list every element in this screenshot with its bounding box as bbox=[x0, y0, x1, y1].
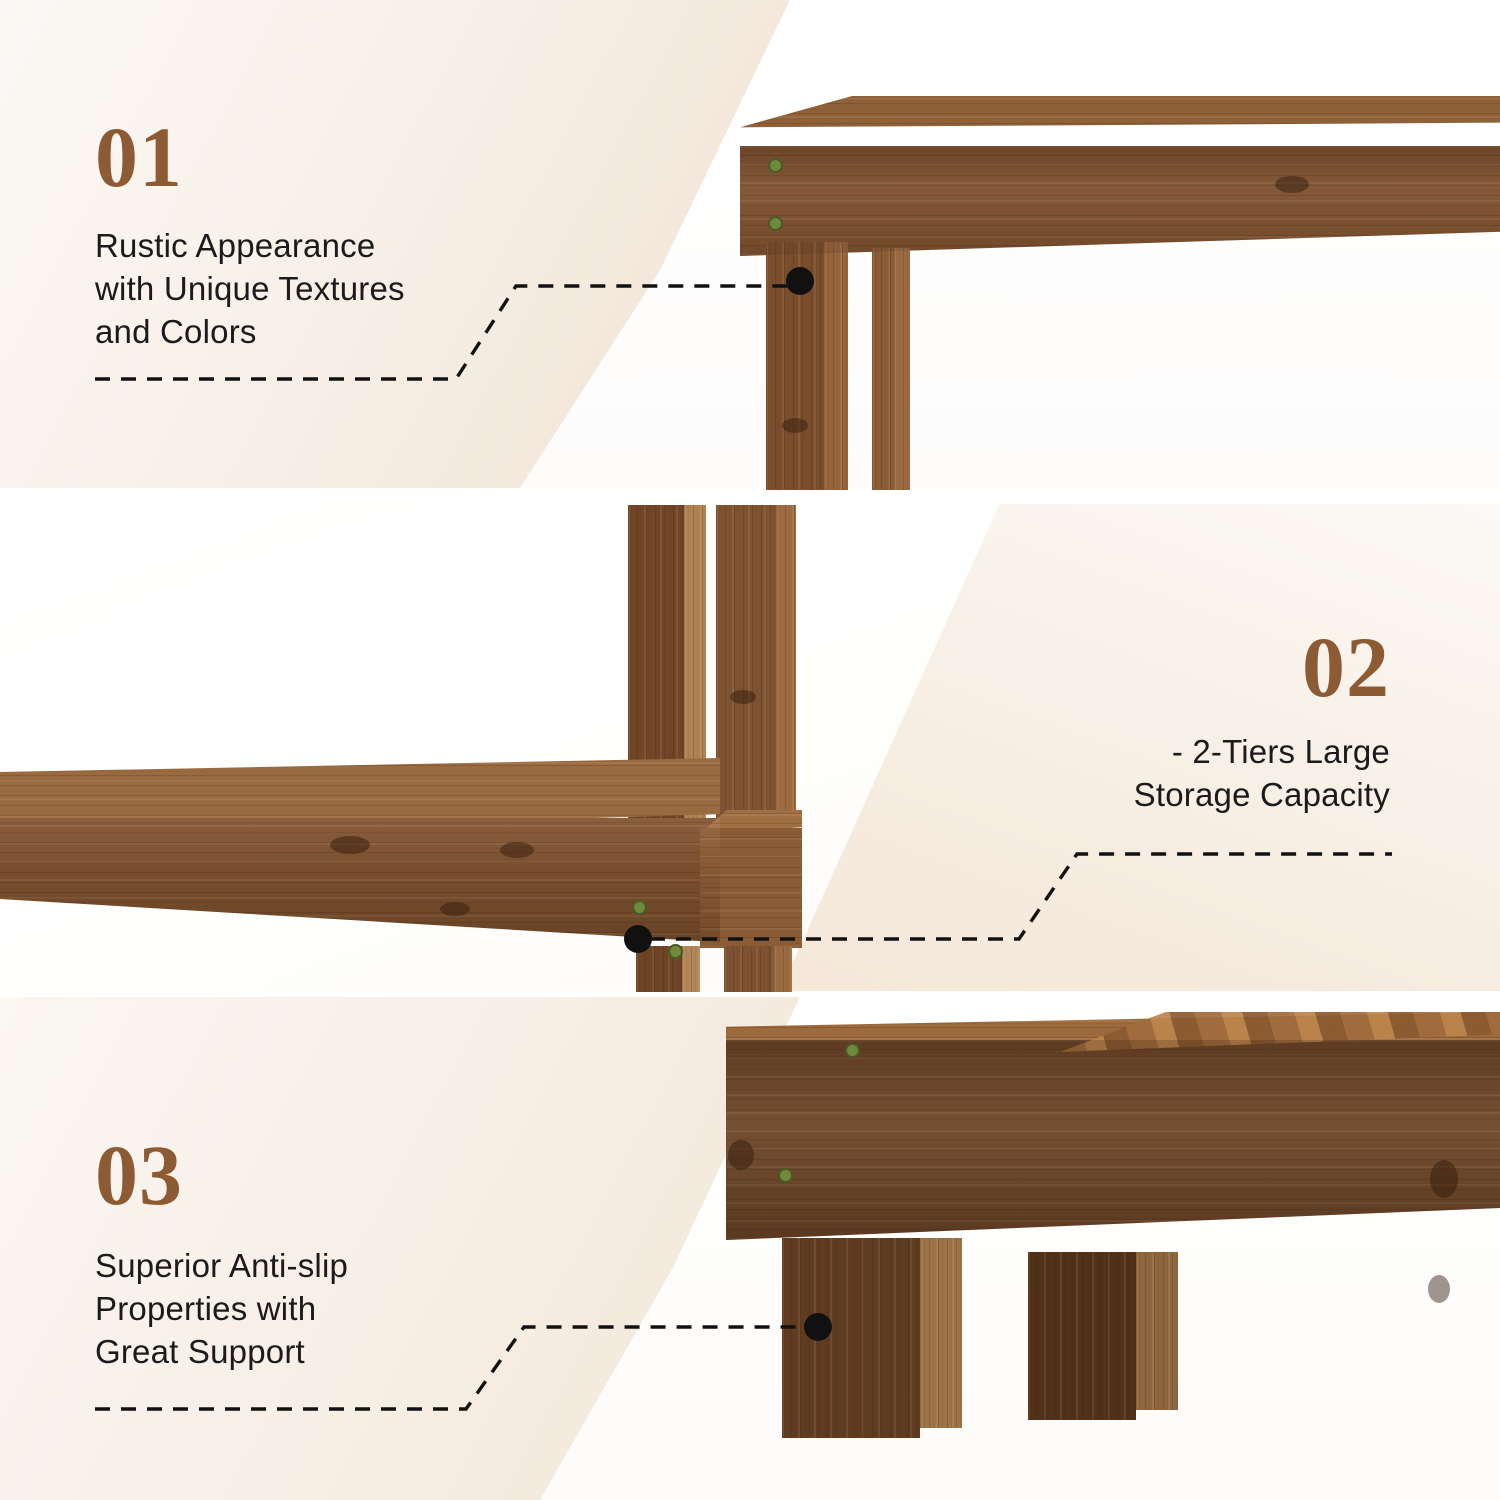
shelf-leg-right-side bbox=[774, 946, 792, 992]
screw-icon bbox=[668, 944, 683, 959]
screw-icon bbox=[768, 216, 783, 231]
wood-knot bbox=[1275, 176, 1309, 193]
shelf-post-right bbox=[716, 505, 776, 827]
shelf-leg-left-side bbox=[682, 946, 700, 992]
feature-headline-03: Superior Anti-slip Properties with Great… bbox=[95, 1245, 348, 1374]
screw-icon bbox=[768, 158, 783, 173]
table-leg-front bbox=[766, 242, 824, 490]
wood-knot bbox=[1430, 1160, 1458, 1198]
table-leg-rear-side bbox=[894, 248, 910, 490]
feature-number-03: 03 bbox=[95, 1136, 348, 1215]
wood-knot bbox=[500, 842, 534, 858]
wood-knot bbox=[440, 902, 470, 916]
screw-icon bbox=[632, 900, 647, 915]
feature-text-03: 03 Superior Anti-slip Properties with Gr… bbox=[95, 1136, 348, 1374]
feature-headline-02: - 2-Tiers Large Storage Capacity bbox=[1134, 731, 1390, 817]
wood-knot bbox=[1428, 1275, 1450, 1303]
shelf-leg-right bbox=[724, 946, 774, 992]
beam-shading bbox=[726, 1040, 1500, 1240]
wood-knot bbox=[730, 690, 756, 704]
anti-slip-foot-left bbox=[782, 1238, 920, 1438]
wood-knot bbox=[782, 418, 808, 433]
anti-slip-foot-right bbox=[1028, 1252, 1136, 1420]
table-leg-rear bbox=[872, 248, 894, 490]
feature-text-01: 01 Rustic Appearance with Unique Texture… bbox=[95, 118, 405, 354]
screw-icon bbox=[778, 1168, 793, 1183]
feature-number-01: 01 bbox=[95, 118, 405, 197]
anti-slip-foot-right-side bbox=[1136, 1252, 1178, 1410]
infographic-stage: 01 Rustic Appearance with Unique Texture… bbox=[0, 0, 1500, 1500]
feature-headline-01: Rustic Appearance with Unique Textures a… bbox=[95, 225, 405, 354]
feature-text-02: 02 - 2-Tiers Large Storage Capacity bbox=[1134, 628, 1390, 817]
feature-number-02: 02 bbox=[1134, 628, 1390, 707]
table-leg-front-side bbox=[824, 242, 848, 490]
wood-knot bbox=[728, 1140, 754, 1170]
wood-knot bbox=[330, 836, 370, 854]
shelf-post-right-side bbox=[776, 505, 796, 827]
anti-slip-foot-left-side bbox=[920, 1238, 962, 1428]
screw-icon bbox=[845, 1043, 860, 1058]
